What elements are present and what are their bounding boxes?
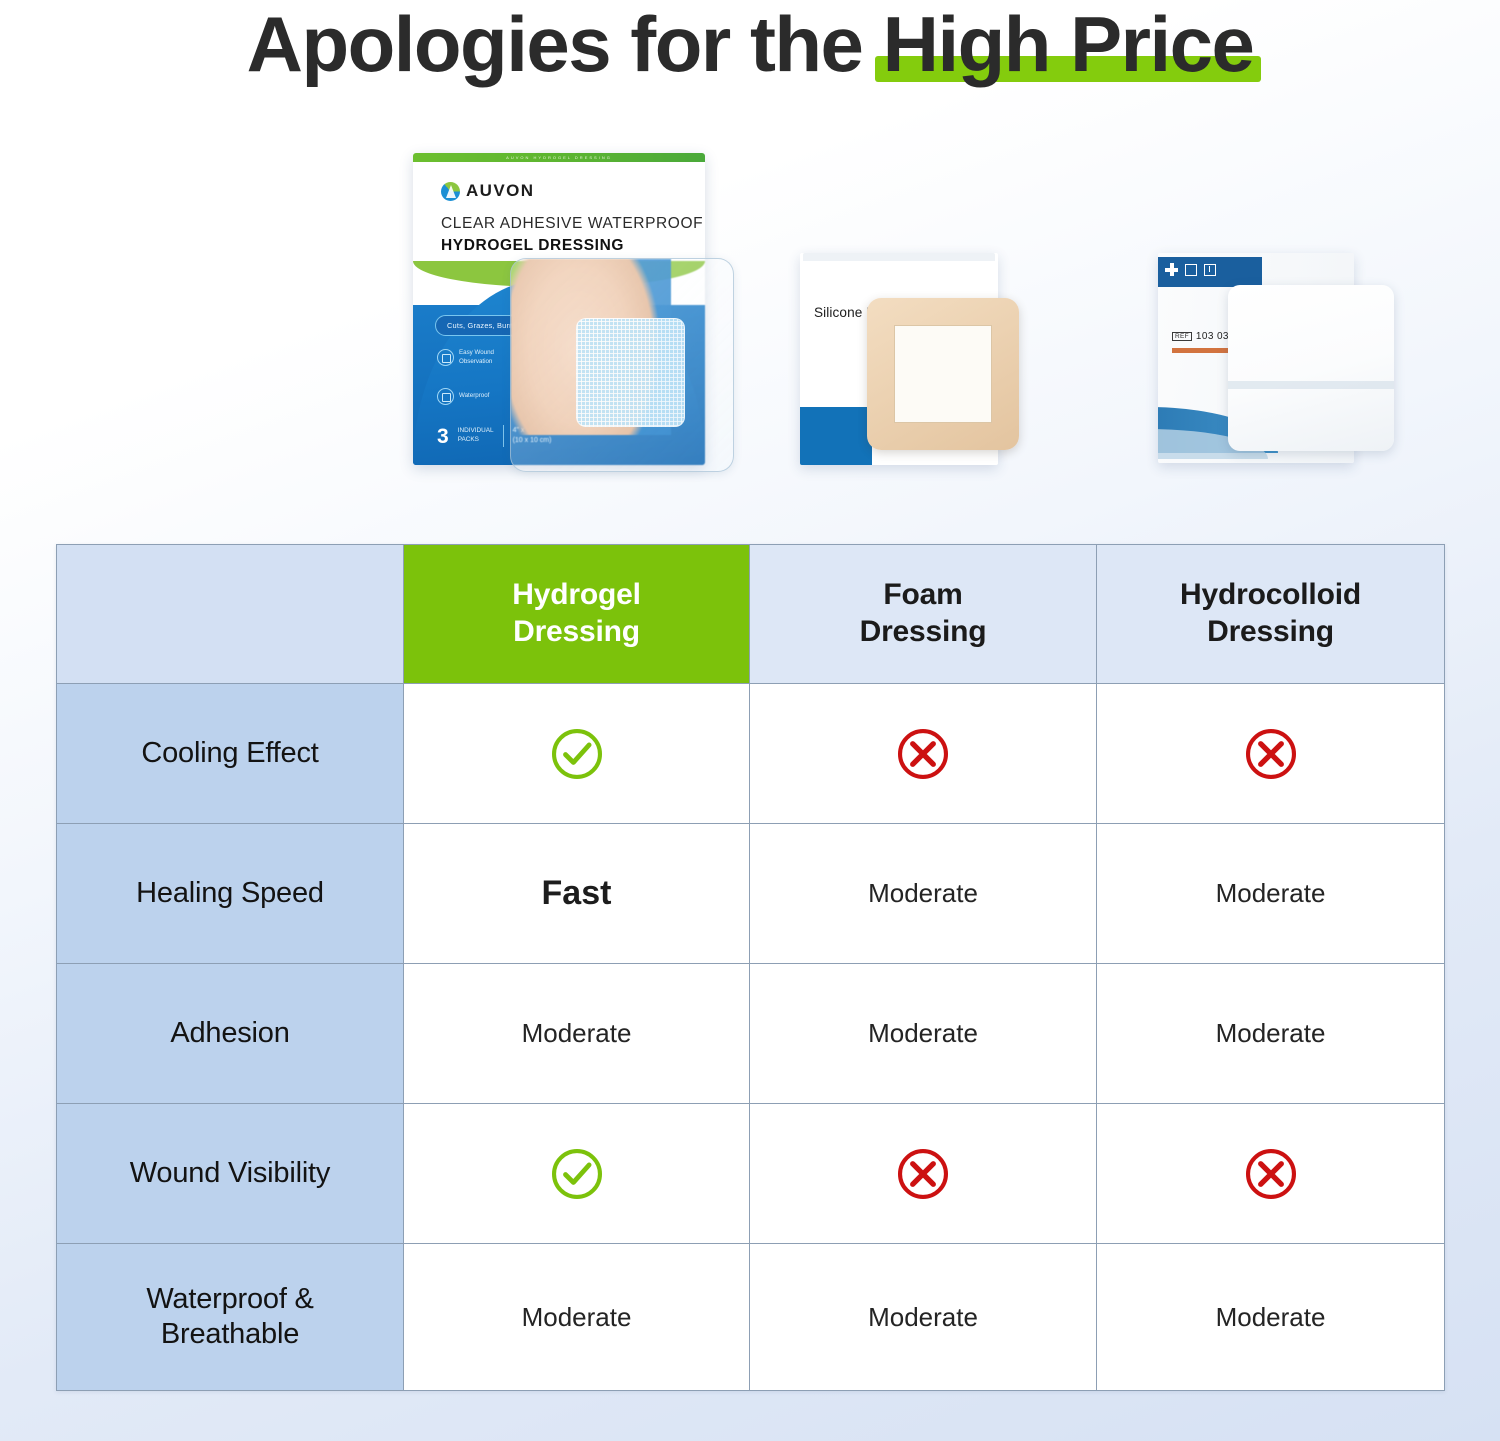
table-row: Healing Speed Fast Moderate Moderate <box>57 824 1445 964</box>
cell-waterproof-hydrogel: Moderate <box>404 1244 750 1391</box>
product-image-row: AUVON HYDROGEL DRESSING AUVON CLEAR ADHE… <box>0 148 1500 498</box>
auvon-logo: AUVON <box>441 181 534 201</box>
count-label-line2: PACKS <box>458 436 479 443</box>
package-count: 3 <box>437 426 449 447</box>
box-top-code-text: AUVON HYDROGEL DRESSING <box>413 154 705 161</box>
cell-cooling-foam <box>750 684 1097 824</box>
product-foam-package: Silicone Foam Dressing <box>800 253 1070 468</box>
table-row: Adhesion Moderate Moderate Moderate <box>57 964 1445 1104</box>
cell-cooling-hydrogel <box>404 684 750 824</box>
table-row: Wound Visibility <box>57 1104 1445 1244</box>
information-symbol-icon <box>1204 264 1216 276</box>
header-foam: Foam Dressing <box>750 545 1097 684</box>
header-foam-line1: Foam <box>883 578 962 611</box>
cell-visibility-hydrogel <box>404 1104 750 1244</box>
header-hydrogel-line2: Dressing <box>513 615 640 648</box>
auvon-logo-mark-icon <box>441 182 460 201</box>
foam-box-top <box>803 253 995 261</box>
cell-waterproof-hydrocolloid: Moderate <box>1097 1244 1445 1391</box>
hydrocolloid-dressing-pad <box>1228 285 1394 451</box>
cell-adhesion-hydrogel: Moderate <box>404 964 750 1104</box>
header-hydrocolloid: Hydrocolloid Dressing <box>1097 545 1445 684</box>
page-title-highlight: High Price <box>883 4 1254 86</box>
check-circle-icon <box>548 1145 606 1203</box>
header-foam-line2: Dressing <box>860 615 987 648</box>
page-title-plain: Apologies for the <box>247 0 883 88</box>
page-title: Apologies for the High Price <box>0 4 1500 86</box>
waterproof-drop-icon <box>437 388 454 405</box>
header-hydrogel: Hydrogel Dressing <box>404 545 750 684</box>
table-row: Waterproof & Breathable Moderate Moderat… <box>57 1244 1445 1391</box>
header-blank-cell <box>57 545 404 684</box>
feature-item: Waterproof <box>437 388 520 405</box>
cell-visibility-hydrocolloid <box>1097 1104 1445 1244</box>
foam-box-blue-block <box>800 407 872 465</box>
cell-healing-hydrocolloid: Moderate <box>1097 824 1445 964</box>
auvon-brand-text: AUVON <box>466 181 534 201</box>
cross-circle-icon <box>1242 725 1300 783</box>
package-count-label: INDIVIDUAL PACKS <box>458 427 494 445</box>
divider <box>503 425 504 447</box>
package-title-line1: CLEAR ADHESIVE WATERPROOF <box>441 215 703 233</box>
cell-waterproof-foam: Moderate <box>750 1244 1097 1391</box>
foam-dressing-pad <box>867 298 1019 450</box>
row-label-adhesion: Adhesion <box>57 964 404 1104</box>
cell-adhesion-hydrocolloid: Moderate <box>1097 964 1445 1104</box>
check-circle-icon <box>548 725 606 783</box>
row-label-cooling-effect: Cooling Effect <box>57 684 404 824</box>
table-row: Cooling Effect <box>57 684 1445 824</box>
row-label-line2: Breathable <box>161 1318 299 1350</box>
header-hydrogel-line1: Hydrogel <box>512 578 640 611</box>
count-label-line1: INDIVIDUAL <box>458 427 494 434</box>
ref-block: REF 103 031 <box>1172 331 1235 342</box>
eye-observation-icon <box>437 349 454 366</box>
medical-cross-icon <box>1165 263 1178 276</box>
medical-symbols <box>1165 263 1216 276</box>
header-hydrocolloid-line1: Hydrocolloid <box>1180 578 1361 611</box>
table-header-row: Hydrogel Dressing Foam Dressing Hydrocol… <box>57 545 1445 684</box>
package-title-line2: HYDROGEL DRESSING <box>441 237 624 255</box>
product-hydrogel-package: AUVON HYDROGEL DRESSING AUVON CLEAR ADHE… <box>413 153 733 471</box>
cross-circle-icon <box>894 725 952 783</box>
product-hydrocolloid-package: REF 103 031 <box>1158 253 1438 468</box>
row-label-waterproof-breathable: Waterproof & Breathable <box>57 1244 404 1391</box>
cell-adhesion-foam: Moderate <box>750 964 1097 1104</box>
feature-label: Waterproof <box>459 392 489 400</box>
cell-visibility-foam <box>750 1104 1097 1244</box>
ref-tag: REF <box>1172 332 1192 341</box>
cell-cooling-hydrocolloid <box>1097 684 1445 824</box>
cell-healing-foam: Moderate <box>750 824 1097 964</box>
header-hydrocolloid-line2: Dressing <box>1207 615 1334 648</box>
comparison-table: Hydrogel Dressing Foam Dressing Hydrocol… <box>56 544 1445 1391</box>
hydrogel-pad-grid <box>576 318 685 427</box>
square-symbol-icon <box>1185 264 1197 276</box>
feature-item: Easy Wound Observation <box>437 349 520 366</box>
row-label-wound-visibility: Wound Visibility <box>57 1104 404 1244</box>
cross-circle-icon <box>1242 1145 1300 1203</box>
row-label-healing-speed: Healing Speed <box>57 824 404 964</box>
cell-healing-hydrogel: Fast <box>404 824 750 964</box>
row-label-line1: Waterproof & <box>146 1283 313 1315</box>
cross-circle-icon <box>894 1145 952 1203</box>
